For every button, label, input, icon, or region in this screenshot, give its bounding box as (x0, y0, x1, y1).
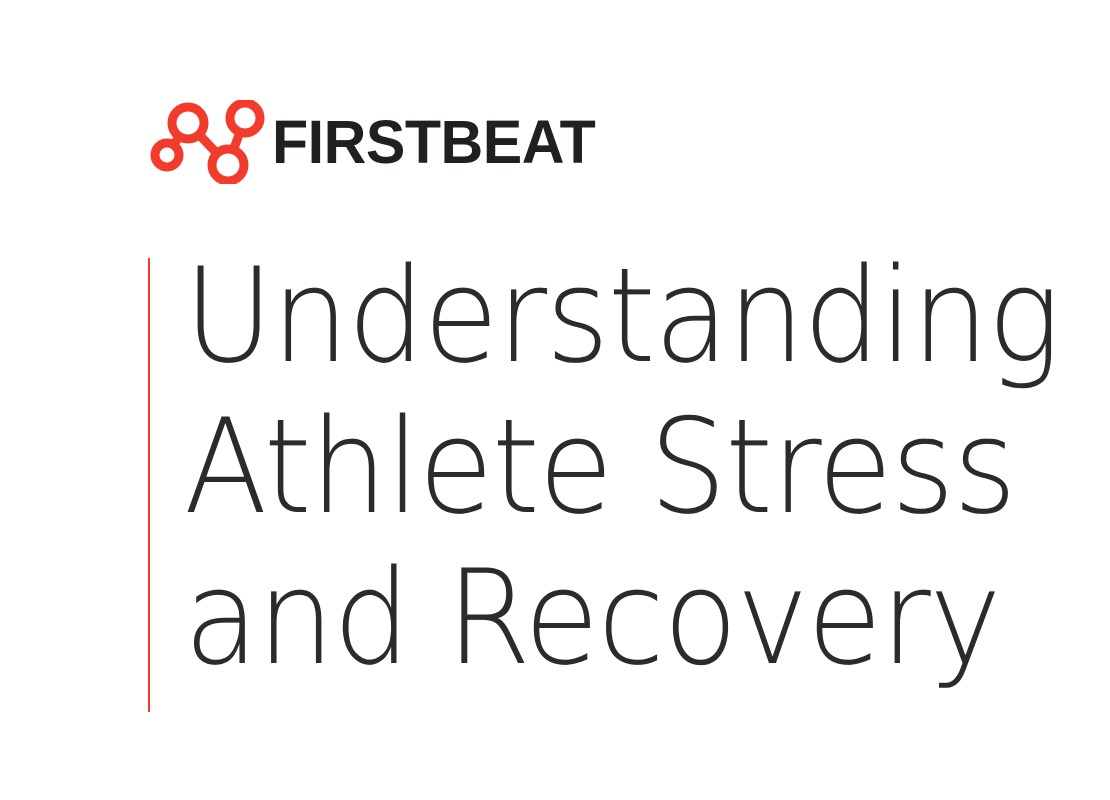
firstbeat-node-network-icon (148, 100, 268, 184)
page-title-line-2: Athlete Stress (184, 391, 1059, 542)
page-title-line-3: and Recovery (184, 542, 1059, 693)
title-accent-rule (148, 258, 150, 712)
cover-page: FIRSTBEAT Understanding Athlete Stress a… (0, 0, 1110, 800)
brand-wordmark: FIRSTBEAT (272, 112, 595, 173)
brand-lockup: FIRSTBEAT (148, 100, 605, 184)
page-title: Understanding Athlete Stress and Recover… (184, 240, 1110, 693)
page-title-line-1: Understanding (184, 240, 1059, 391)
title-block: Understanding Athlete Stress and Recover… (148, 258, 1110, 712)
